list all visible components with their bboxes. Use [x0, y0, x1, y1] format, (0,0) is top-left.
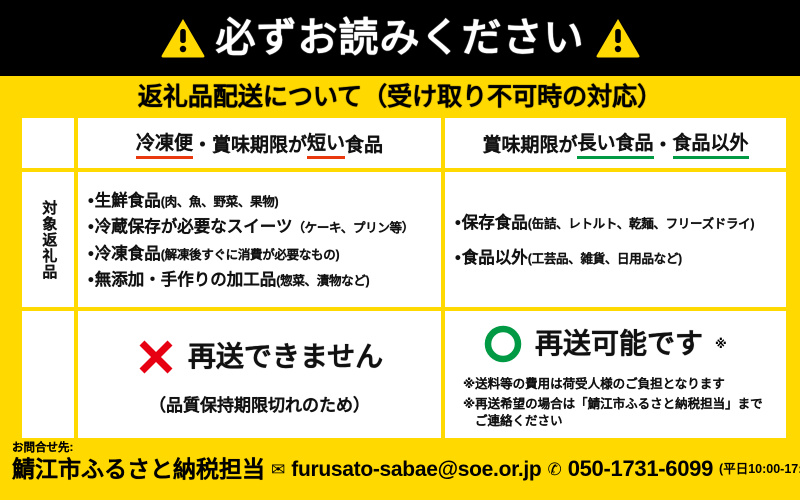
list-item: • 生鮮食品 (肉、魚、野菜、果物) [88, 193, 435, 210]
resend-note-line: ※再送希望の場合は「鯖江市ふるさと納税担当」まで [463, 397, 763, 411]
list-item-note: (缶詰、レトルト、乾麺、フリーズドライ) [528, 218, 754, 231]
no-resend-result: 再送できません （品質保持期限切れのため） [78, 311, 441, 442]
no-resend-headline: 再送できません [136, 337, 383, 377]
resend-note-line: ※送料等の費用は荷受人様のご負担となります [463, 377, 725, 391]
footer-department: 鯖江市ふるさと納税担当 [12, 458, 265, 481]
table-corner-cell [22, 118, 74, 168]
column-header-left-part1: 冷凍便 [136, 128, 193, 159]
row-label-target-items-text: 対象返礼品 [40, 200, 57, 280]
bullet-dot-icon: • [88, 193, 94, 210]
footer-business-hours: (平日10:00-17:00対応) [719, 463, 800, 476]
cell-result-left: 再送できません （品質保持期限切れのため） [78, 311, 441, 442]
footer-contact: お問合せ先: 鯖江市ふるさと納税担当 ✉ furusato-sabae@soe.… [0, 438, 800, 500]
footer-email[interactable]: furusato-sabae@soe.or.jp [291, 459, 541, 480]
column-header-right-part2: 長い食品 [577, 128, 653, 159]
column-header-right-part4: 食品以外 [673, 128, 749, 159]
list-item-note: (解凍後すぐに消費が必要なもの) [161, 249, 340, 262]
resend-note-line2: ご連絡ください [463, 413, 763, 429]
subtitle-text: 返礼品配送について（受け取り不可時の対応） [138, 85, 662, 110]
bullet-dot-icon: • [88, 246, 94, 263]
list-item-note: (肉、魚、野菜、果物) [161, 196, 279, 209]
column-header-left-part3: 短い [307, 128, 345, 159]
phone-icon: ✆ [547, 461, 561, 478]
list-item-main: 生鮮食品 [95, 193, 161, 210]
circle-mark-icon [483, 324, 523, 364]
bullet-dot-icon: • [88, 272, 94, 289]
resend-note: ※再送希望の場合は「鯖江市ふるさと納税担当」まで ご連絡ください [463, 396, 763, 429]
resend-note: ※送料等の費用は荷受人様のご負担となります [463, 376, 763, 392]
warning-triangle-icon [595, 17, 641, 59]
list-item-main: 食品以外 [462, 250, 528, 267]
no-resend-reason: （品質保持期限切れのため） [149, 391, 370, 416]
header-bar: 必ずお読みください [0, 0, 800, 76]
no-resend-label: 再送できません [188, 343, 383, 371]
resend-ok-headline: 再送可能です ※ [483, 324, 727, 364]
row-label-target-items: 対象返礼品 [22, 172, 74, 307]
row-label-undeliverable: 受け取り 不可時の対応 [22, 311, 74, 442]
list-item-note: （ケーキ、プリン等） [292, 222, 414, 235]
cross-mark-icon [136, 337, 176, 377]
column-header-left-part4: 食品 [345, 130, 383, 157]
bullet-dot-icon: • [88, 219, 94, 236]
resend-ok-result: 再送可能です ※ ※送料等の費用は荷受人様のご負担となります ※再送希望の場合は… [445, 311, 786, 442]
column-header-left-part2: ・賞味期限が [193, 130, 307, 157]
bullet-list-left: • 生鮮食品 (肉、魚、野菜、果物) • 冷蔵保存が必要なスイーツ （ケーキ、プ… [78, 172, 441, 307]
mail-icon: ✉ [271, 461, 285, 478]
list-item-main: 冷凍食品 [95, 246, 161, 263]
list-item-main: 無添加・手作りの加工品 [95, 272, 277, 289]
resend-ok-label: 再送可能です [535, 330, 703, 358]
resend-ok-asterisk: ※ [715, 337, 727, 351]
bullet-dot-icon: • [455, 250, 461, 267]
subtitle-bar: 返礼品配送について（受け取り不可時の対応） [0, 76, 800, 118]
footer-label: お問合せ先: [12, 442, 790, 456]
footer-contact-line: 鯖江市ふるさと納税担当 ✉ furusato-sabae@soe.or.jp ✆… [12, 458, 790, 481]
list-item: • 冷凍食品 (解凍後すぐに消費が必要なもの) [88, 246, 435, 263]
warning-banner: 必ずお読みください 返礼品配送について（受け取り不可時の対応） 冷凍便・賞味期限… [0, 0, 800, 500]
bullet-list-right: • 保存食品 (缶詰、レトルト、乾麺、フリーズドライ) • 食品以外 (工芸品、… [445, 172, 786, 307]
list-item-note: (惣菜、漬物など) [276, 275, 369, 288]
column-header-short-shelf-life: 冷凍便・賞味期限が短い食品 [78, 118, 441, 168]
cell-target-items-left: • 生鮮食品 (肉、魚、野菜、果物) • 冷蔵保存が必要なスイーツ （ケーキ、プ… [78, 172, 441, 307]
cell-target-items-right: • 保存食品 (缶詰、レトルト、乾麺、フリーズドライ) • 食品以外 (工芸品、… [445, 172, 786, 307]
row-label-undeliverable-columns: 受け取り 不可時の対応 [22, 329, 74, 425]
list-item-note: (工芸品、雑貨、日用品など) [528, 253, 682, 266]
list-item: • 保存食品 (缶詰、レトルト、乾麺、フリーズドライ) [455, 215, 780, 232]
resend-notes: ※送料等の費用は荷受人様のご負担となります ※再送希望の場合は「鯖江市ふるさと納… [463, 376, 763, 429]
list-item-main: 保存食品 [462, 215, 528, 232]
footer-telephone[interactable]: 050-1731-6099 [568, 458, 713, 480]
column-header-right-part3: ・ [654, 130, 673, 157]
list-item: • 食品以外 (工芸品、雑貨、日用品など) [455, 250, 780, 267]
list-item: • 冷蔵保存が必要なスイーツ （ケーキ、プリン等） [88, 219, 435, 236]
column-header-long-shelf-life: 賞味期限が長い食品・食品以外 [445, 118, 786, 168]
warning-triangle-icon [160, 17, 206, 59]
list-item: • 無添加・手作りの加工品 (惣菜、漬物など) [88, 272, 435, 289]
column-header-right-part1: 賞味期限が [482, 130, 577, 157]
bullet-dot-icon: • [455, 215, 461, 232]
page-title: 必ずお読みください [216, 18, 585, 58]
cell-result-right: 再送可能です ※ ※送料等の費用は荷受人様のご負担となります ※再送希望の場合は… [445, 311, 786, 442]
list-item-main: 冷蔵保存が必要なスイーツ [95, 219, 293, 236]
delivery-policy-table: 冷凍便・賞味期限が短い食品 賞味期限が長い食品・食品以外 対象返礼品 • 生鮮食… [22, 118, 778, 434]
